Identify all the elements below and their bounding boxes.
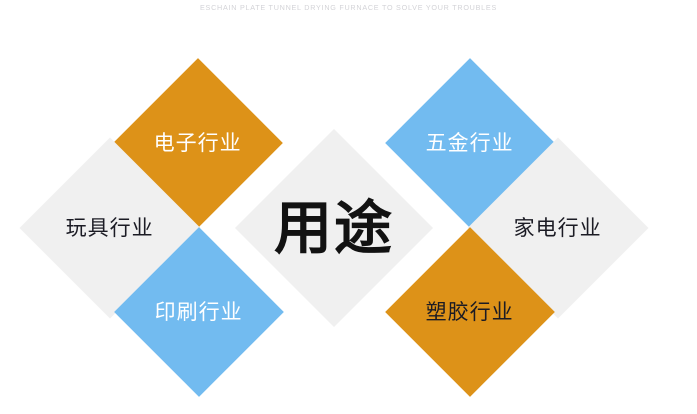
diagram-center-title: 用途 <box>274 199 394 257</box>
diamond-label-hardware: 五金行业 <box>426 133 514 154</box>
diamond-label-electronics: 电子行业 <box>154 133 242 154</box>
diamond-label-plastic: 塑胶行业 <box>426 302 514 323</box>
diamond-layout: 电子行业 五金行业 玩具行业 用途 家电行业 印刷行业 塑胶行业 <box>0 0 697 414</box>
usage-diagram-canvas: ESCHAIN PLATE TUNNEL DRYING FURNACE TO S… <box>0 0 697 414</box>
diamond-label-printing: 印刷行业 <box>155 302 243 323</box>
diamond-label-appliance: 家电行业 <box>514 218 602 239</box>
diamond-label-toys: 玩具行业 <box>66 218 154 239</box>
